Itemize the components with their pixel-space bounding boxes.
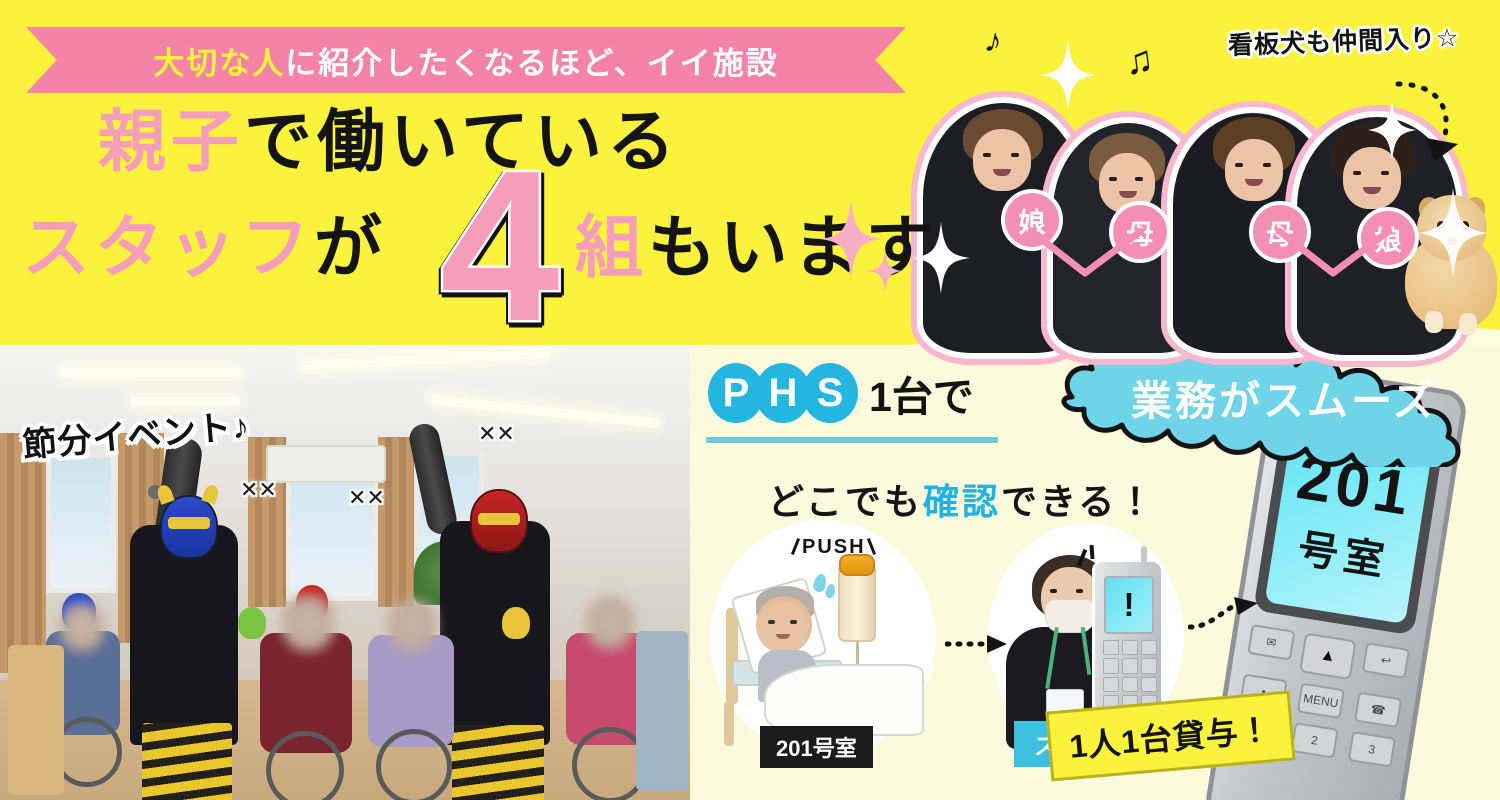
phs-letter-s: S xyxy=(802,363,858,423)
phs-subtitle-part1: どこでも xyxy=(768,481,923,522)
music-note-icon: ♫ xyxy=(1122,38,1156,84)
poster-root: 大切な人に紹介したくなるほど、イイ施設 親子で働いている スタッフが組もいます … xyxy=(0,0,1500,800)
headline-line2-black-2: もいます xyxy=(648,210,939,286)
phone-alert-screen: ! xyxy=(1104,576,1154,634)
phone-key-2[interactable]: 2 xyxy=(1290,722,1338,759)
headline-line2-pink-2: 組 xyxy=(575,210,648,286)
patient-illustration: PUSH 201号室 xyxy=(710,520,960,765)
ribbon-rest-text: に紹介したくなるほど、イイ施設 xyxy=(285,38,778,83)
badge-connector xyxy=(1015,215,1155,285)
sparkle-mark: ✕✕ xyxy=(348,485,385,511)
phone-nav-key[interactable]: ▲ xyxy=(1299,633,1357,681)
headline-line2-pink-1: スタッフ xyxy=(22,210,314,286)
ribbon-text: 大切な人に紹介したくなるほど、イイ施設 xyxy=(26,27,906,93)
phone-menu-key[interactable]: MENU xyxy=(1297,683,1345,720)
sparkle-mark: ✕✕ xyxy=(240,477,277,503)
big-number-4: 4 xyxy=(440,138,560,353)
phs-subtitle-part2: できる！ xyxy=(1001,481,1156,522)
ribbon-banner: 大切な人に紹介したくなるほど、イイ施設 xyxy=(26,27,906,93)
phs-panel: P H S 1台で 業務がスムーズ どこでも確認できる！ PUSH xyxy=(690,345,1500,800)
phs-logo-suffix: 1台で xyxy=(869,363,974,423)
phone-antenna xyxy=(1141,546,1147,566)
phs-subtitle-highlight: 確認 xyxy=(923,481,1001,522)
badge-connector xyxy=(1263,215,1403,285)
staff-phs-device: ! xyxy=(1092,559,1164,717)
phs-logo: P H S 1台で xyxy=(708,363,974,423)
phone-back-key[interactable]: ↩ xyxy=(1362,642,1410,679)
sparkle-mark: ✕✕ xyxy=(478,421,515,447)
phs-subtitle: どこでも確認できる！ xyxy=(768,473,1156,525)
ribbon-highlight-text: 大切な人 xyxy=(153,38,285,83)
phs-underline xyxy=(706,437,998,443)
phone-key-3[interactable]: 3 xyxy=(1348,731,1396,768)
phone-keypad xyxy=(1103,640,1157,710)
curved-arrow-icon xyxy=(1380,78,1470,168)
dotted-arrow-icon xyxy=(945,633,1007,655)
phone-call-key[interactable]: ☎ xyxy=(1354,692,1402,729)
headline-line1-pink: 親子 xyxy=(98,104,244,180)
dotted-arrow-icon xyxy=(1188,597,1258,631)
room-number-badge: 201号室 xyxy=(760,726,873,768)
phone-room-suffix: 号室 xyxy=(1294,516,1394,588)
headline-line2-black-1: が xyxy=(314,210,387,286)
